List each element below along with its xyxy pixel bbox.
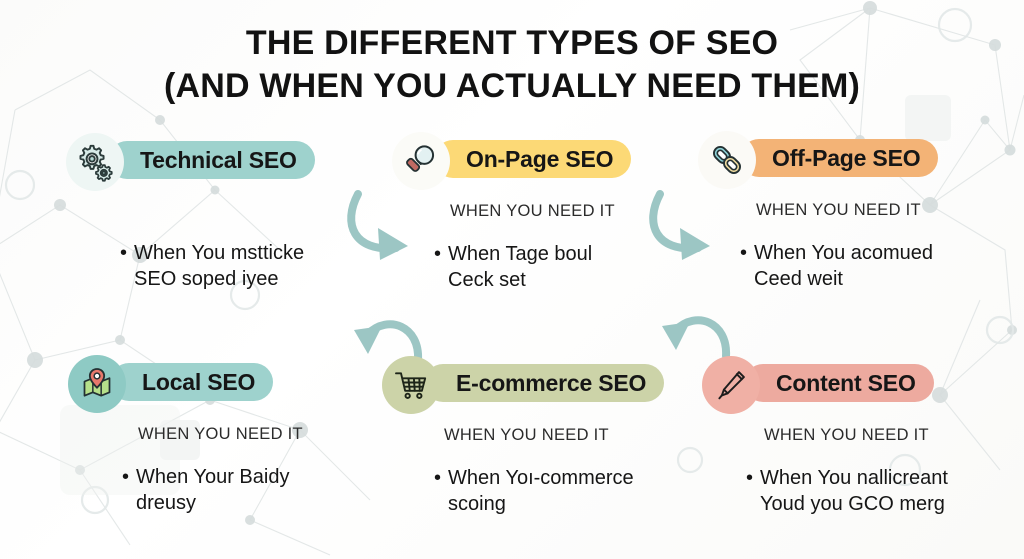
bullet-text: When You nallicreant Youd you GCO merg	[760, 465, 948, 517]
pen-icon	[702, 356, 760, 414]
card-bullet: • When You nallicreant Youd you GCO merg	[746, 465, 1022, 517]
card-off-page-seo: Off-Page SEO WHEN YOU NEED IT • When You…	[698, 131, 1008, 292]
when-you-need-it-label: WHEN YOU NEED IT	[756, 201, 1008, 220]
magnifying-glass-icon	[392, 132, 450, 190]
card-local-seo: Local SEO WHEN YOU NEED IT • When Your B…	[68, 355, 368, 516]
card-bullet: • When Yoı-commerce scoing	[434, 465, 702, 517]
card-technical-seo: Technical SEO • W	[66, 133, 366, 292]
infographic-canvas: THE DIFFERENT TYPES OF SEO (AND WHEN YOU…	[0, 0, 1024, 559]
when-you-need-it-label: WHEN YOU NEED IT	[138, 425, 368, 444]
card-header: On-Page SEO	[392, 132, 692, 192]
card-title: Local SEO	[142, 369, 255, 396]
card-pill: Local SEO	[110, 363, 273, 401]
card-header: E-commerce SEO	[382, 356, 702, 416]
card-pill: Off-Page SEO	[740, 139, 938, 177]
card-title: On-Page SEO	[466, 146, 613, 173]
card-header: Technical SEO	[66, 133, 366, 193]
card-ecommerce-seo: E-commerce SEO WHEN YOU NEED IT • When Y…	[382, 356, 702, 517]
card-title: Off-Page SEO	[772, 145, 920, 172]
bullet-text: When Tage boul Ceck set	[448, 241, 592, 293]
map-pin-icon	[68, 355, 126, 413]
gears-icon	[66, 133, 124, 191]
card-header: Content SEO	[702, 356, 1022, 416]
when-you-need-it-label: WHEN YOU NEED IT	[444, 426, 702, 445]
bullet-dot: •	[122, 464, 129, 490]
card-pill: On-Page SEO	[434, 140, 631, 178]
card-pill: Content SEO	[744, 364, 934, 402]
bullet-text: When Your Baidy dreusy	[136, 464, 289, 516]
bullet-dot: •	[434, 241, 441, 267]
card-title: E-commerce SEO	[456, 370, 646, 397]
card-bullet: • When Your Baidy dreusy	[122, 464, 368, 516]
card-pill: Technical SEO	[108, 141, 315, 179]
card-pill: E-commerce SEO	[424, 364, 664, 402]
bullet-dot: •	[434, 465, 441, 491]
page-title: THE DIFFERENT TYPES OF SEO (AND WHEN YOU…	[0, 22, 1024, 107]
card-bullet: • When You mstticke SEO soped iyee	[120, 240, 366, 292]
bullet-text: When You mstticke SEO soped iyee	[134, 240, 304, 292]
shopping-cart-icon	[382, 356, 440, 414]
bullet-dot: •	[746, 465, 753, 491]
bullet-dot: •	[740, 240, 747, 266]
title-line-2: (AND WHEN YOU ACTUALLY NEED THEM)	[0, 65, 1024, 108]
bullet-dot: •	[120, 240, 127, 266]
card-bullet: • When Tage boul Ceck set	[434, 241, 692, 293]
when-you-need-it-label: WHEN YOU NEED IT	[764, 426, 1022, 445]
bullet-text: When Yoı-commerce scoing	[448, 465, 634, 517]
card-on-page-seo: On-Page SEO WHEN YOU NEED IT • When Tage…	[392, 132, 692, 293]
title-line-1: THE DIFFERENT TYPES OF SEO	[0, 22, 1024, 65]
card-title: Technical SEO	[140, 147, 297, 174]
bullet-text: When You acomued Ceed weit	[754, 240, 933, 292]
card-content-seo: Content SEO WHEN YOU NEED IT • When You …	[702, 356, 1022, 517]
card-header: Off-Page SEO	[698, 131, 1008, 191]
chain-link-icon	[698, 131, 756, 189]
card-header: Local SEO	[68, 355, 368, 415]
card-title: Content SEO	[776, 370, 916, 397]
card-bullet: • When You acomued Ceed weit	[740, 240, 1008, 292]
when-you-need-it-label: WHEN YOU NEED IT	[450, 202, 692, 221]
